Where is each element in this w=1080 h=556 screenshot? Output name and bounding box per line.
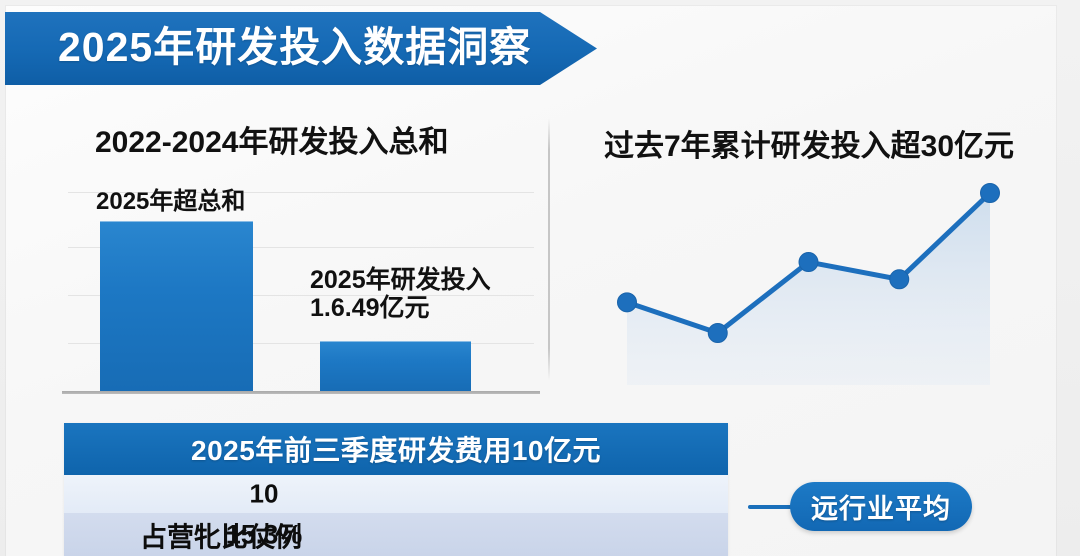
summary-table: 2025年前三季度研发费用10亿元 10 占营牝比仗例 15.3% [64,423,728,556]
bar-2022-2024-total [100,221,253,392]
table-cell-value: 10 [64,479,728,510]
table-cell-value: 15.3% [64,519,728,550]
infographic-canvas: 2025年研发投入数据洞察 2022-2024年研发投入总和 2025年超总和 … [0,0,1080,556]
bar-label-short: 2025年研发投入1.6.49亿元 [310,266,500,323]
legend-pill[interactable]: 远行业平均 [790,482,972,531]
table-header-row: 2025年前三季度研发费用10亿元 [64,423,728,475]
left-panel-heading: 2022-2024年研发投入总和 [95,117,448,161]
right-panel-heading: 过去7年累计研发投入超30亿元 [604,121,1014,165]
right-line-chart-panel [548,0,1080,410]
table-header-text: 2025年前三季度研发费用10亿元 [191,429,601,469]
table-row: 10 [64,475,728,513]
legend-label: 远行业平均 [811,487,951,526]
bar-2025-investment [320,341,471,392]
table-row: 占营牝比仗例 15.3% [64,513,728,556]
left-axis-line [62,391,540,394]
bar-label-tall: 2025年超总和 [96,181,245,216]
left-bar-chart-panel [0,0,548,410]
